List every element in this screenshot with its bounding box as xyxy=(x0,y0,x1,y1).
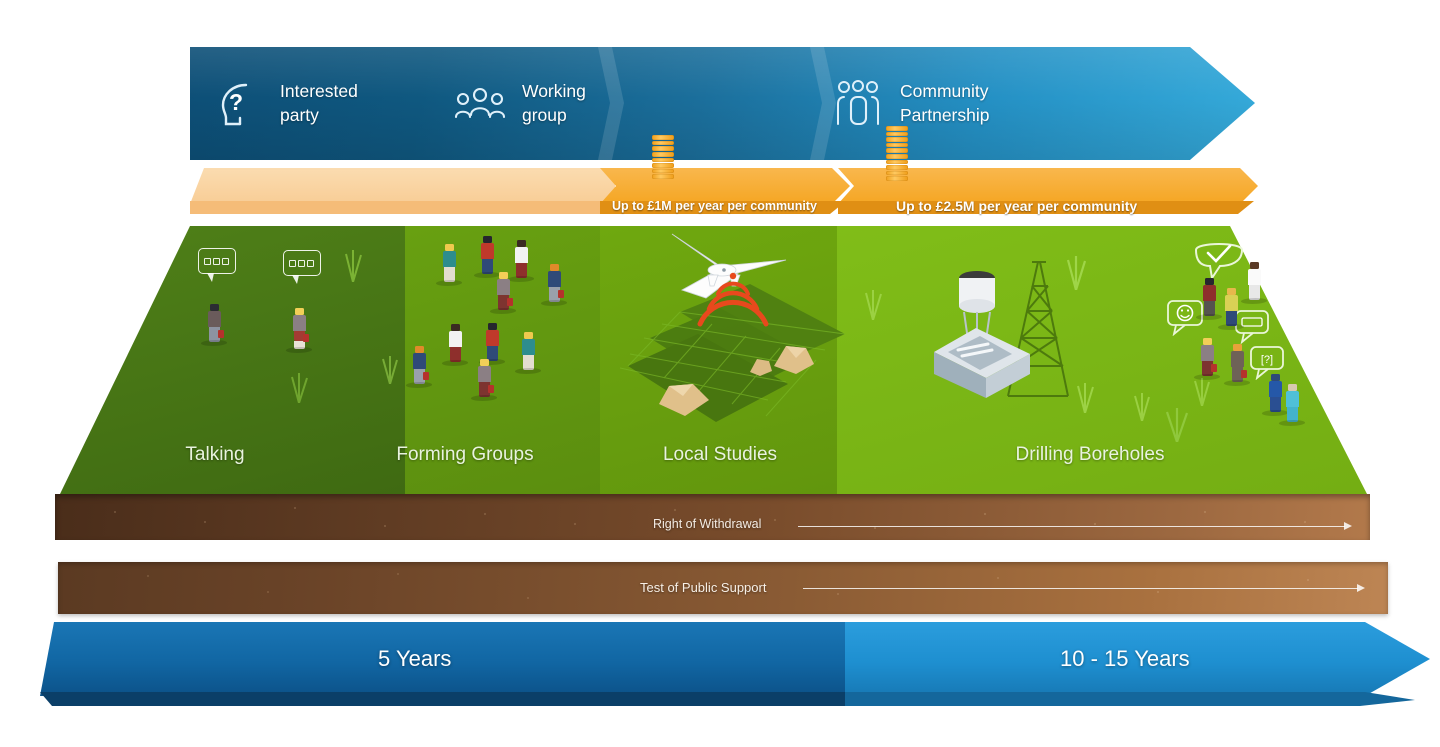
stage-label-drilling-boreholes: Drilling Boreholes xyxy=(950,444,1230,466)
person-figure xyxy=(1245,262,1263,300)
no-funding-bar-top xyxy=(190,168,615,204)
banner-segment-label: Working group xyxy=(522,80,586,127)
withdrawal-arrow-line xyxy=(798,526,1345,527)
banner-segment-interested-party[interactable]: ? Interested party xyxy=(210,47,358,160)
person-figure xyxy=(545,264,563,302)
no-funding-bar xyxy=(190,168,615,214)
public-support-arrow-head xyxy=(1357,584,1365,592)
coin-stack-2p5m xyxy=(886,126,908,182)
funding-bar-2p5m-label: Up to £2.5M per year per community xyxy=(896,197,1137,216)
withdrawal-arrow-head xyxy=(1344,522,1352,530)
drill-equipment-icon xyxy=(928,322,1036,398)
timeline-bar: 5 Years 10 - 15 Years xyxy=(40,622,1430,712)
rock-icon xyxy=(655,374,713,418)
checkmark-bubble-icon xyxy=(1190,240,1248,284)
timeline-segment-10-15-years-edge xyxy=(845,692,1430,706)
person-figure xyxy=(519,332,537,370)
right-of-withdrawal-label: Right of Withdrawal xyxy=(653,517,761,531)
funding-bar-2p5m: Up to £2.5M per year per community xyxy=(838,168,1258,214)
soil-layer: Right of Withdrawal xyxy=(0,494,1440,542)
rock-icon xyxy=(770,336,818,376)
person-figure xyxy=(205,304,223,342)
rock-icon xyxy=(748,354,774,378)
community-group-icon xyxy=(830,80,886,128)
person-figure xyxy=(494,272,512,310)
person-figure xyxy=(512,240,530,278)
three-people-icon xyxy=(452,87,508,121)
head-question-icon: ? xyxy=(210,80,266,128)
person-figure xyxy=(1198,338,1216,376)
banner-segment-working-group[interactable]: Working group xyxy=(452,47,586,160)
person-figure xyxy=(440,244,458,282)
person-figure xyxy=(1222,288,1240,326)
funding-bar-1m-label: Up to £1M per year per community xyxy=(612,197,817,216)
speech-bubble-icon xyxy=(283,250,321,276)
person-figure xyxy=(1266,374,1284,412)
banner-segment-label: Interested party xyxy=(280,80,358,127)
timeline-segment-5-years-edge xyxy=(40,692,845,706)
partnership-banner: ? Interested party Working group xyxy=(190,47,1255,160)
coin-stack-1m xyxy=(652,135,674,180)
person-figure xyxy=(1228,344,1246,382)
funding-bar-1m: Up to £1M per year per community xyxy=(600,168,850,214)
stage-label-local-studies: Local Studies xyxy=(625,444,815,466)
speech-bubble-icon xyxy=(198,248,236,274)
person-figure xyxy=(410,346,428,384)
funding-row: Up to £1M per year per community Up to £… xyxy=(0,160,1440,226)
landscape-stages: [?] Talking Forming Groups Local Studies… xyxy=(0,226,1440,536)
radar-signal-icon xyxy=(688,268,778,338)
timeline-label-10-15-years: 10 - 15 Years xyxy=(1060,646,1190,672)
person-figure xyxy=(475,359,493,397)
person-figure xyxy=(1283,384,1301,422)
person-figure xyxy=(446,324,464,362)
no-funding-bar-side xyxy=(190,201,615,214)
svg-text:?: ? xyxy=(229,89,243,115)
person-figure xyxy=(290,308,308,349)
stage-label-forming-groups: Forming Groups xyxy=(370,444,560,466)
stage-label-talking: Talking xyxy=(125,444,305,466)
person-figure xyxy=(478,236,496,274)
svg-text:[?]: [?] xyxy=(1261,354,1273,366)
banner-segment-label: Community Partnership xyxy=(900,80,990,127)
timeline-label-5-years: 5 Years xyxy=(378,646,451,672)
test-of-public-support-bar: Test of Public Support xyxy=(58,562,1388,614)
public-support-arrow-line xyxy=(803,588,1358,589)
person-figure xyxy=(1200,278,1218,316)
test-of-public-support-label: Test of Public Support xyxy=(640,580,766,595)
banner-segment-community-partnership[interactable]: Community Partnership xyxy=(830,47,990,160)
person-figure xyxy=(483,323,501,361)
